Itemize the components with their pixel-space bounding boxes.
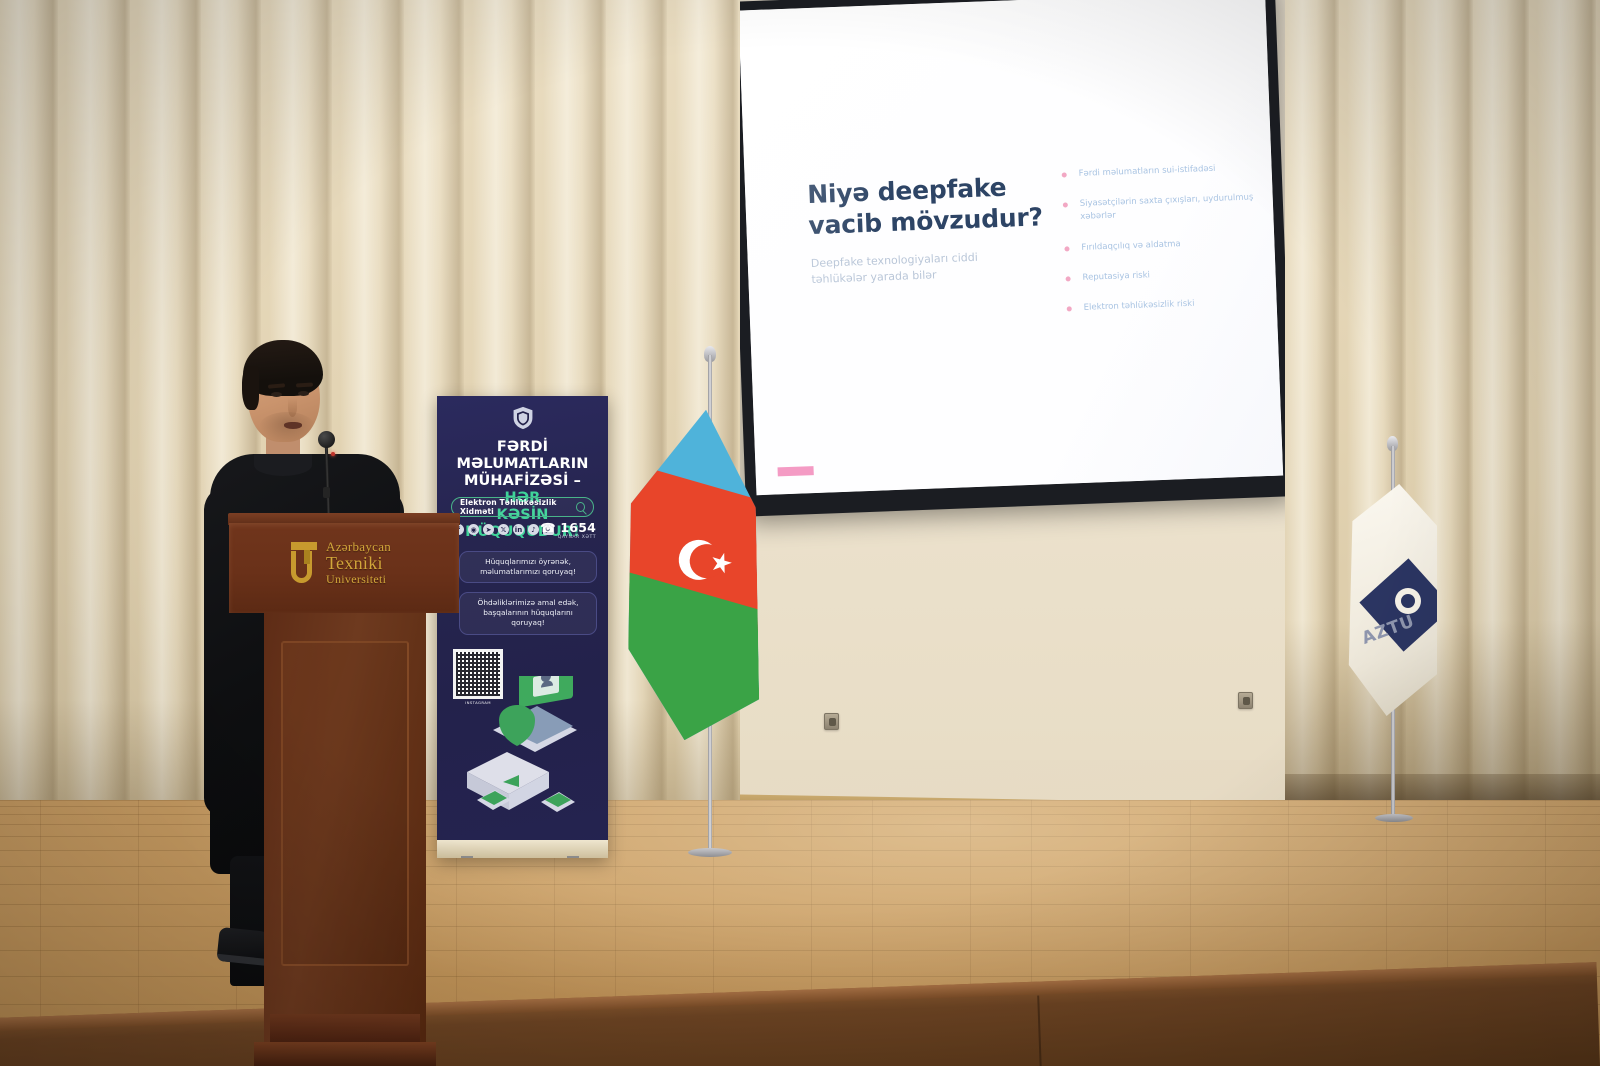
university-crest-icon bbox=[285, 541, 319, 585]
bullet-dot-icon bbox=[1062, 172, 1067, 177]
bullet-text: Elektron təhlükəsizlik riski bbox=[1083, 295, 1264, 315]
screen-surface: Niyə deepfake vacib mövzudur? Deepfake t… bbox=[738, 0, 1283, 495]
slide-subtitle: Deepfake texnologiyaları ciddi təhlükələ… bbox=[811, 248, 1027, 288]
collar bbox=[254, 454, 312, 476]
bullet-dot-icon bbox=[1067, 306, 1072, 311]
nose bbox=[288, 398, 297, 417]
logo-line-3: Universiteti bbox=[326, 573, 391, 586]
logo-line-1: Azərbaycan bbox=[326, 540, 391, 554]
headline-line-1: FƏRDİ MƏLUMATLARIN bbox=[444, 439, 601, 473]
eye-left bbox=[271, 392, 282, 397]
banner-foot-right bbox=[567, 856, 579, 858]
flag-base bbox=[688, 848, 732, 857]
slide-bullet-5: Elektron təhlükəsizlik riski bbox=[1065, 295, 1265, 316]
lectern-podium: Azərbaycan Texniki Universiteti bbox=[228, 513, 460, 1066]
flag-cloth: AZTU bbox=[1347, 484, 1437, 716]
banner-search-pill: Elektron Təhlükəsizlik Xidməti bbox=[451, 497, 594, 517]
hotline-label: QAYNAR XƏTT bbox=[540, 535, 596, 540]
microphone-icon bbox=[318, 431, 335, 448]
twitter-icon: 𝕏 bbox=[498, 524, 509, 535]
bullet-text: Siyasətçilərin saxta çıxışları, uydurulm… bbox=[1080, 191, 1262, 224]
slide-bullet-2: Siyasətçilərin saxta çıxışları, uydurulm… bbox=[1061, 191, 1262, 225]
flag-base bbox=[1375, 814, 1413, 822]
logo-line-2: Texniki bbox=[326, 554, 391, 573]
podium-column bbox=[264, 611, 426, 1066]
hotline-number: ☎ 1654 bbox=[540, 520, 596, 535]
microphone-led bbox=[331, 452, 335, 456]
telegram-icon: ➤ bbox=[483, 524, 494, 535]
message-2-text: Öhdəliklərimizə amal edək, başqalarının … bbox=[466, 598, 590, 629]
shield-icon bbox=[512, 406, 533, 430]
university-flag: AZTU bbox=[1339, 436, 1449, 826]
presentation-slide: Niyə deepfake vacib mövzudur? Deepfake t… bbox=[738, 0, 1283, 495]
crest-tick bbox=[304, 550, 310, 564]
hair-sideburn bbox=[242, 366, 259, 410]
podium-foot bbox=[254, 1042, 436, 1066]
flag-cloth bbox=[624, 409, 760, 741]
headline-line-2a: MÜHAFİZƏSİ – bbox=[464, 473, 581, 489]
azerbaijan-flag bbox=[626, 355, 776, 865]
stage-seam bbox=[1037, 996, 1042, 1066]
slide-bullet-list: Fərdi məlumatların sui-istifadəsiSiyasət… bbox=[1059, 161, 1265, 332]
university-logo: Azərbaycan Texniki Universiteti bbox=[285, 540, 391, 586]
banner-message-1: Hüquqlarımızı öyrənək, məlumatlarımızı q… bbox=[459, 551, 597, 583]
slide-accent-bar bbox=[777, 466, 813, 476]
aztu-ring-icon bbox=[1395, 588, 1421, 614]
wall-outlet-left bbox=[824, 713, 839, 730]
microphone-clip bbox=[323, 487, 330, 498]
message-1-text: Hüquqlarımızı öyrənək, məlumatlarımızı q… bbox=[466, 557, 590, 577]
bullet-dot-icon bbox=[1066, 276, 1071, 281]
search-service-label: Elektron Təhlükəsizlik Xidməti bbox=[460, 498, 576, 516]
university-name: Azərbaycan Texniki Universiteti bbox=[326, 540, 391, 586]
slide-title: Niyə deepfake vacib mövzudur? bbox=[807, 171, 1044, 241]
projector-screen: Niyə deepfake vacib mövzudur? Deepfake t… bbox=[727, 0, 1294, 517]
banner-message-2: Öhdəliklərimizə amal edək, başqalarının … bbox=[459, 592, 597, 635]
bullet-text: Fərdi məlumatların sui-istifadəsi bbox=[1078, 161, 1259, 181]
bullet-dot-icon bbox=[1064, 246, 1069, 251]
instagram-icon: ◉ bbox=[468, 524, 479, 535]
slide-bullet-1: Fərdi məlumatların sui-istifadəsi bbox=[1059, 161, 1259, 182]
bullet-text: Reputasiya riski bbox=[1082, 265, 1263, 285]
mouth bbox=[284, 422, 302, 429]
conference-hall-scene: Niyə deepfake vacib mövzudur? Deepfake t… bbox=[0, 0, 1600, 1066]
social-icon-row: f◉➤𝕏in♪▶ bbox=[453, 524, 554, 535]
search-icon bbox=[576, 502, 585, 512]
slide-bullet-4: Reputasiya riski bbox=[1063, 265, 1263, 286]
bullet-text: Fırıldaqçılıq və aldatma bbox=[1081, 235, 1262, 255]
podium-front-face: Azərbaycan Texniki Universiteti bbox=[229, 523, 459, 613]
podium-plinth bbox=[270, 1014, 420, 1044]
eye-right bbox=[298, 391, 309, 396]
slide-bullet-3: Fırıldaqçılıq və aldatma bbox=[1062, 235, 1262, 256]
wall-outlet-right bbox=[1238, 692, 1253, 709]
podium-panel bbox=[281, 641, 409, 966]
crest-bar bbox=[291, 542, 317, 550]
bullet-dot-icon bbox=[1063, 203, 1068, 208]
hotline-block: ☎ 1654 QAYNAR XƏTT bbox=[540, 520, 596, 540]
tiktok-icon: ♪ bbox=[528, 524, 539, 535]
linkedin-icon: in bbox=[513, 524, 524, 535]
